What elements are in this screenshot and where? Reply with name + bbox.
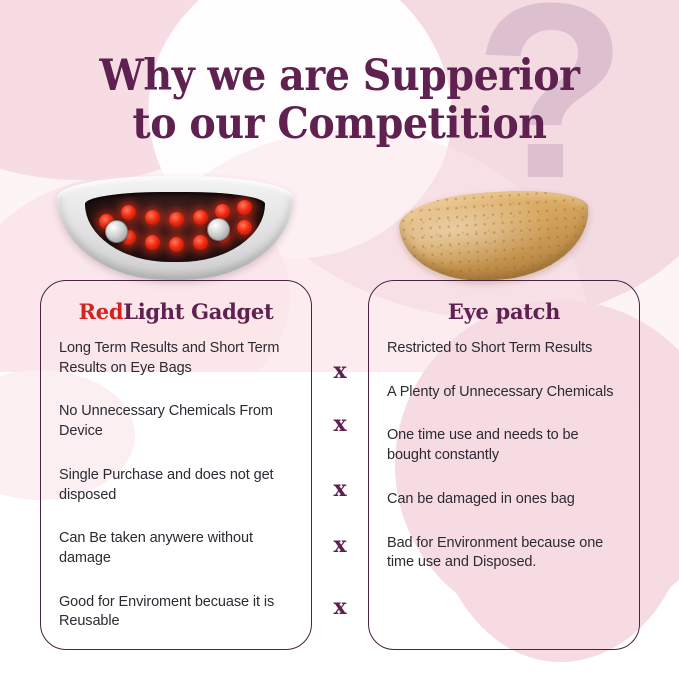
list-item: A Plenty of Unnecessary Chemicals: [387, 383, 621, 403]
list-item: Long Term Results and Short Term Results…: [59, 339, 293, 378]
x-mark-icon: x: [312, 411, 368, 437]
list-item: Restricted to Short Term Results: [387, 339, 621, 359]
separator-column: x x x x x: [312, 280, 368, 650]
eye-patch-body: [397, 185, 593, 286]
list-item: No Unnecessary Chemicals From Device: [59, 402, 293, 441]
infographic-canvas: ? Why we are Supperior to our Competitio…: [0, 0, 679, 679]
brand-name-rest: Light Gadget: [123, 299, 273, 324]
device-metal-disc-left: [105, 220, 128, 243]
list-item: One time use and needs to be bought cons…: [387, 426, 621, 465]
list-item: Good for Enviroment becuase it is Reusab…: [59, 593, 293, 632]
page-title-line-1: Why we are Supperior: [27, 52, 652, 100]
red-light-device-image: [57, 176, 293, 280]
list-item: Single Purchase and does not get dispose…: [59, 466, 293, 505]
comparison-card-eye-patch: Eye patch Restricted to Short Term Resul…: [368, 280, 640, 650]
list-item: Can Be taken anywere without damage: [59, 529, 293, 568]
card-title-eye-patch: Eye patch: [369, 299, 639, 324]
x-mark-icon: x: [312, 358, 368, 384]
eye-patch-image: [400, 192, 590, 280]
feature-list-redlight-gadget: Long Term Results and Short Term Results…: [41, 339, 311, 632]
list-item: Bad for Environment because one time use…: [387, 534, 621, 573]
x-mark-icon: x: [312, 476, 368, 502]
page-title-line-2: to our Competition: [27, 100, 652, 148]
device-metal-disc-right: [207, 218, 230, 241]
x-mark-icon: x: [312, 594, 368, 620]
comparison-card-redlight-gadget: RedLight Gadget Long Term Results and Sh…: [40, 280, 312, 650]
brand-name-highlight: Red: [79, 299, 124, 324]
x-mark-icon: x: [312, 532, 368, 558]
card-title-redlight-gadget: RedLight Gadget: [41, 299, 311, 324]
feature-list-eye-patch: Restricted to Short Term Results A Plent…: [369, 339, 639, 573]
page-title: Why we are Supperior to our Competition: [27, 52, 652, 148]
eye-patch-texture: [397, 185, 593, 286]
list-item: Can be damaged in ones bag: [387, 490, 621, 510]
